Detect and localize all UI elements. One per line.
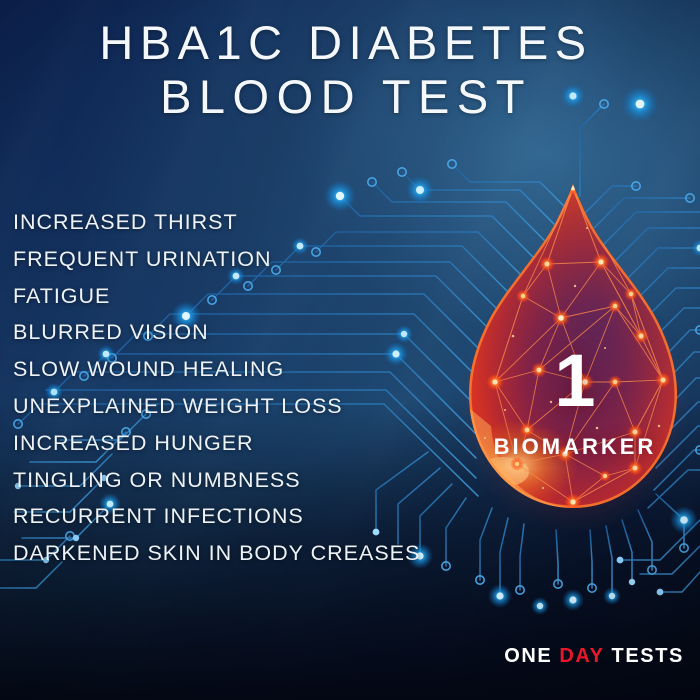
- list-item: DARKENED SKIN IN BODY CREASES: [13, 535, 420, 572]
- logo-word-tests: TESTS: [612, 645, 684, 667]
- symptom-list: INCREASED THIRST FREQUENT URINATION FATI…: [13, 204, 420, 572]
- brand-logo: ONEDAYTESTS: [504, 645, 684, 668]
- page-title: HBA1C DIABETES BLOOD TEST: [0, 16, 692, 124]
- list-item: FREQUENT URINATION: [13, 241, 420, 278]
- list-item: RECURRENT INFECTIONS: [13, 498, 420, 535]
- list-item: FATIGUE: [13, 278, 420, 315]
- promo-graphic: 1 BIOMARKER HBA1C DIABETES BLOOD TEST IN…: [0, 0, 700, 700]
- list-item: INCREASED THIRST: [13, 204, 420, 241]
- title-line-2: BLOOD TEST: [0, 70, 692, 124]
- logo-word-day: DAY: [559, 645, 604, 667]
- list-item: UNEXPLAINED WEIGHT LOSS: [13, 388, 420, 425]
- list-item: BLURRED VISION: [13, 314, 420, 351]
- logo-word-one: ONE: [504, 645, 552, 667]
- list-item: SLOW WOUND HEALING: [13, 351, 420, 388]
- title-line-1: HBA1C DIABETES: [0, 16, 692, 70]
- list-item: TINGLING OR NUMBNESS: [13, 462, 420, 499]
- list-item: INCREASED HUNGER: [13, 425, 420, 462]
